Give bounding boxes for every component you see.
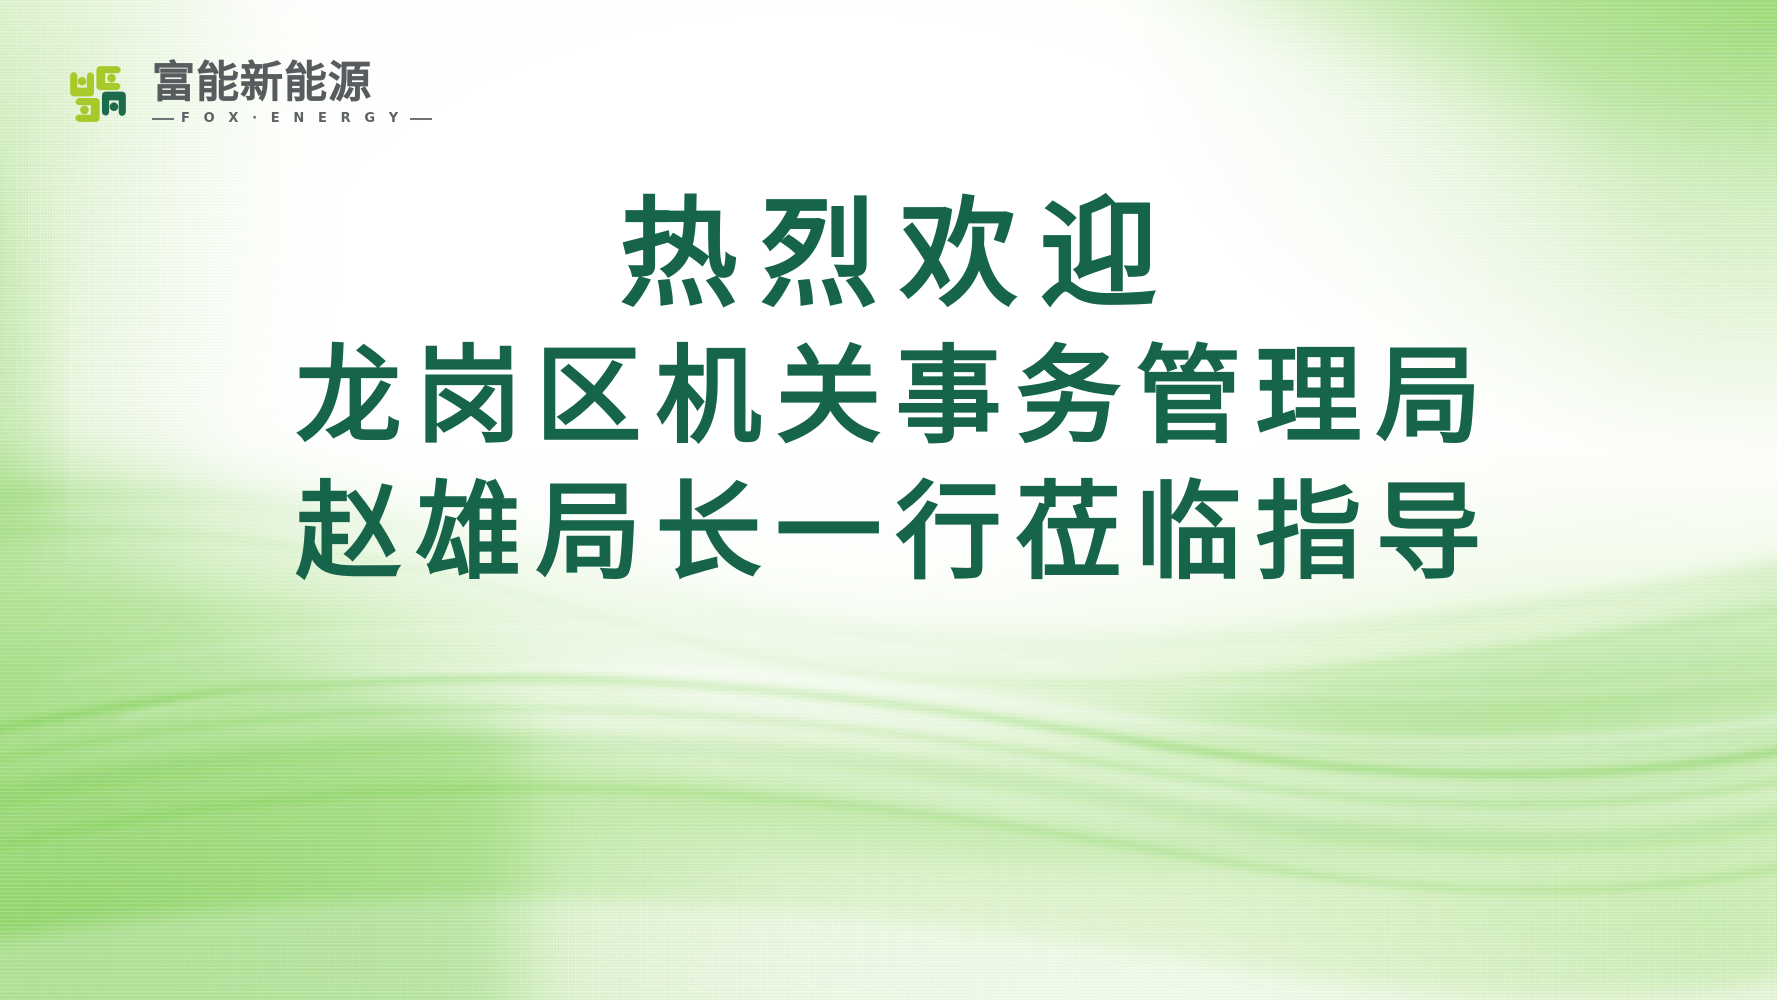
company-logo: 富能新能源 F O X · E N E R G Y <box>58 55 432 133</box>
fox-energy-pinwheel-icon <box>58 55 138 133</box>
logo-tagline: F O X · E N E R G Y <box>181 111 403 126</box>
welcome-banner: 富能新能源 F O X · E N E R G Y 热烈欢迎 龙岗区机关事务管理… <box>0 0 1777 1000</box>
banner-headline: 热烈欢迎 <box>0 192 1777 317</box>
logo-rule-right-divider <box>410 118 432 120</box>
logo-rule-left-divider <box>152 118 174 120</box>
banner-text-block: 热烈欢迎 龙岗区机关事务管理局 赵雄局长一行莅临指导 <box>0 192 1777 603</box>
logo-tagline-row: F O X · E N E R G Y <box>152 111 432 126</box>
banner-subline-visitor: 赵雄局长一行莅临指导 <box>0 463 1777 603</box>
banner-subline-organization: 龙岗区机关事务管理局 <box>0 327 1777 467</box>
logo-text-block: 富能新能源 F O X · E N E R G Y <box>152 62 432 126</box>
logo-wordmark: 富能新能源 <box>152 62 432 105</box>
